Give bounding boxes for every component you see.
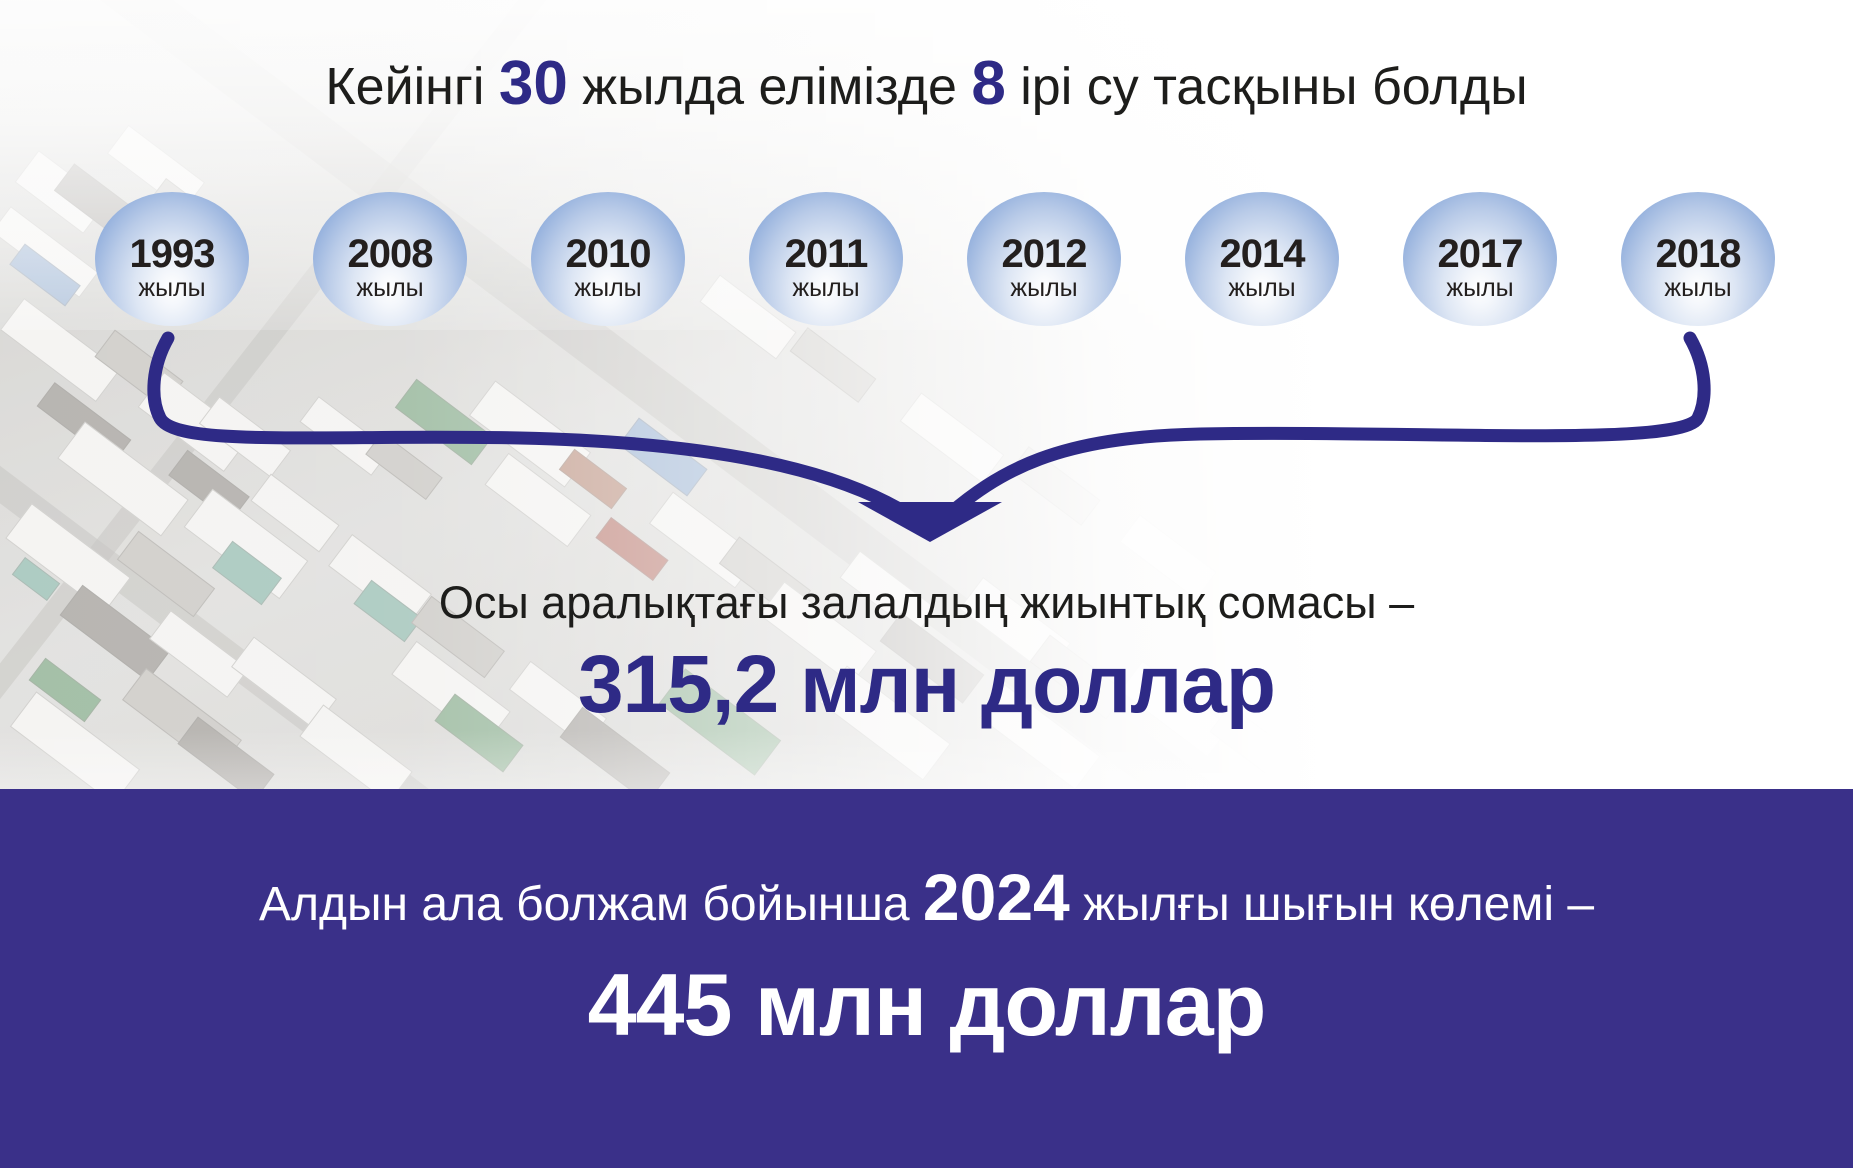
year-value: 2017 — [1438, 233, 1523, 275]
forecast-caption: Алдын ала болжам бойынша 2024 жылғы шығы… — [0, 867, 1853, 935]
forecast-prefix: Алдын ала болжам бойынша — [259, 878, 910, 931]
year-circle-row: 1993 жылы 2008 жылы 2010 жылы 2011 жылы … — [95, 192, 1775, 326]
year-circle-2012[interactable]: 2012 жылы — [967, 192, 1121, 326]
brace-left-stroke — [154, 338, 920, 522]
forecast-panel: Алдын ала болжам бойынша 2024 жылғы шығы… — [0, 789, 1853, 1168]
photo-haze-bottom — [0, 730, 1853, 790]
year-label: жылы — [138, 274, 205, 302]
year-circle-2018[interactable]: 2018 жылы — [1621, 192, 1775, 326]
headline-part1: Кейінгі — [325, 58, 484, 116]
year-circle-2017[interactable]: 2017 жылы — [1403, 192, 1557, 326]
middle-amount: 315,2 млн доллар — [0, 637, 1853, 733]
headline-part2: жылда елімізде — [582, 58, 957, 116]
headline: Кейінгі 30 жылда елімізде 8 ірі су тасқы… — [0, 52, 1853, 119]
year-value: 1993 — [130, 233, 215, 275]
year-value: 2014 — [1220, 233, 1305, 275]
brace-right-stroke — [940, 338, 1704, 522]
year-label: жылы — [792, 274, 859, 302]
arrow-head-down-icon — [858, 502, 1002, 542]
headline-part3: ірі су тасқыны болды — [1020, 58, 1527, 116]
year-label: жылы — [1446, 274, 1513, 302]
middle-caption: Осы аралықтағы залалдың жиынтық сомасы – — [0, 575, 1853, 631]
year-circle-1993[interactable]: 1993 жылы — [95, 192, 249, 326]
forecast-suffix: жылғы шығын көлемі – — [1083, 878, 1594, 931]
year-circle-2014[interactable]: 2014 жылы — [1185, 192, 1339, 326]
forecast-amount: 445 млн доллар — [0, 953, 1853, 1057]
year-label: жылы — [1010, 274, 1077, 302]
year-circle-2008[interactable]: 2008 жылы — [313, 192, 467, 326]
year-circle-2010[interactable]: 2010 жылы — [531, 192, 685, 326]
infographic-poster: Кейінгі 30 жылда елімізде 8 ірі су тасқы… — [0, 0, 1853, 1168]
headline-number-8: 8 — [971, 49, 1005, 118]
year-value: 2018 — [1656, 233, 1741, 275]
forecast-year: 2024 — [923, 860, 1070, 934]
brace-arrow — [0, 326, 1853, 556]
year-value: 2010 — [566, 233, 651, 275]
year-value: 2011 — [785, 233, 868, 275]
year-value: 2012 — [1002, 233, 1087, 275]
year-label: жылы — [1664, 274, 1731, 302]
year-label: жылы — [1228, 274, 1295, 302]
headline-number-30: 30 — [499, 49, 568, 118]
year-value: 2008 — [348, 233, 433, 275]
year-label: жылы — [574, 274, 641, 302]
year-label: жылы — [356, 274, 423, 302]
year-circle-2011[interactable]: 2011 жылы — [749, 192, 903, 326]
middle-statement: Осы аралықтағы залалдың жиынтық сомасы –… — [0, 575, 1853, 733]
